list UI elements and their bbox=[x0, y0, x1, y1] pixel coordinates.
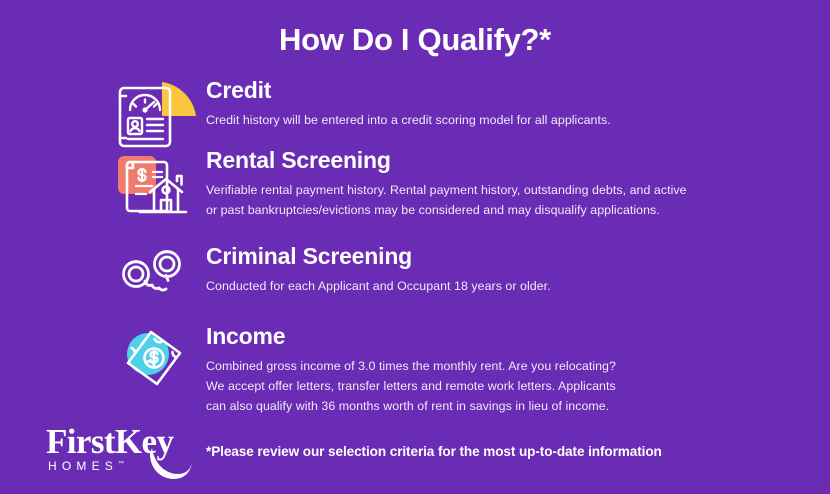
income-text-line-2: We accept offer letters, transfer letter… bbox=[206, 376, 810, 396]
trademark-symbol: ™ bbox=[118, 461, 124, 467]
rental-body: Rental Screening Verifiable rental payme… bbox=[206, 148, 810, 220]
criminal-text-line-1: Conducted for each Applicant and Occupan… bbox=[206, 276, 810, 296]
section-rental-screening: Rental Screening Verifiable rental payme… bbox=[110, 148, 810, 220]
footer: FirstKey HOMES™ *Please review our selec… bbox=[44, 418, 804, 480]
qualification-infographic: How Do I Qualify?* bbox=[0, 0, 830, 494]
logo-swoosh-icon bbox=[148, 446, 194, 480]
rental-text: Verifiable rental payment history. Renta… bbox=[206, 180, 810, 220]
income-text-line-1: Combined gross income of 3.0 times the m… bbox=[206, 356, 810, 376]
section-criminal-screening: Criminal Screening Conducted for each Ap… bbox=[110, 244, 810, 296]
credit-heading: Credit bbox=[206, 78, 810, 103]
credit-body: Credit Credit history will be entered in… bbox=[206, 78, 810, 130]
section-credit: Credit Credit history will be entered in… bbox=[110, 78, 810, 130]
criminal-body: Criminal Screening Conducted for each Ap… bbox=[206, 244, 810, 296]
income-heading: Income bbox=[206, 324, 810, 349]
criminal-heading: Criminal Screening bbox=[206, 244, 810, 269]
credit-report-icon bbox=[110, 78, 196, 150]
banknotes-icon bbox=[110, 324, 196, 396]
handcuffs-icon bbox=[110, 244, 196, 316]
rental-receipt-house-icon bbox=[110, 148, 196, 220]
section-income: Income Combined gross income of 3.0 time… bbox=[110, 324, 810, 417]
rental-text-line-2: or past bankruptcies/evictions may be co… bbox=[206, 200, 810, 220]
rental-heading: Rental Screening bbox=[206, 148, 810, 173]
income-text: Combined gross income of 3.0 times the m… bbox=[206, 356, 810, 416]
income-text-line-3: can also qualify with 36 months worth of… bbox=[206, 396, 810, 416]
rental-text-line-1: Verifiable rental payment history. Renta… bbox=[206, 180, 810, 200]
firstkey-homes-logo: FirstKey HOMES™ bbox=[44, 424, 199, 480]
footnote-text: *Please review our selection criteria fo… bbox=[206, 444, 662, 459]
criminal-text: Conducted for each Applicant and Occupan… bbox=[206, 276, 810, 296]
credit-text-line-1: Credit history will be entered into a cr… bbox=[206, 110, 810, 130]
logo-subtext-label: HOMES bbox=[48, 459, 118, 473]
page-title: How Do I Qualify?* bbox=[0, 22, 830, 58]
income-body: Income Combined gross income of 3.0 time… bbox=[206, 324, 810, 417]
credit-text: Credit history will be entered into a cr… bbox=[206, 110, 810, 130]
logo-subtext: HOMES™ bbox=[48, 460, 124, 472]
